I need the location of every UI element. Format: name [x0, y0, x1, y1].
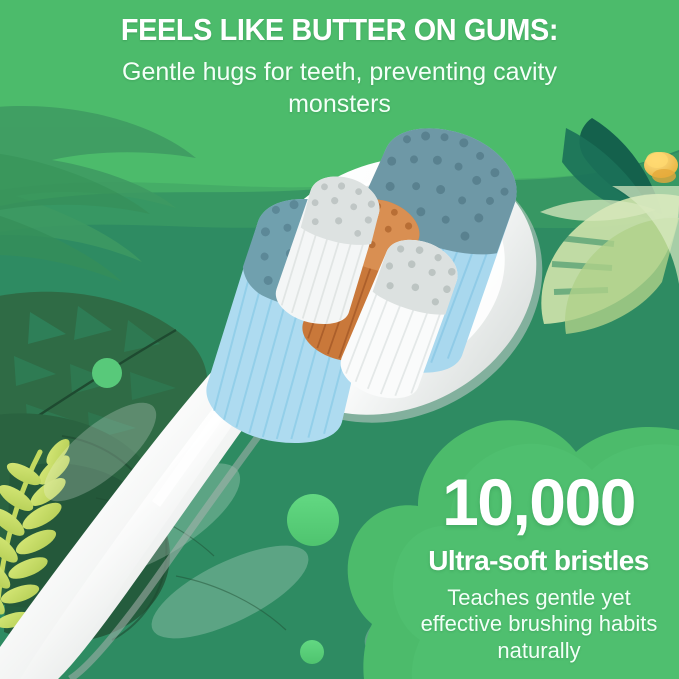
- bristle-count-label: Ultra-soft bristles: [398, 546, 679, 575]
- bristle-count-number: 10,000: [398, 470, 679, 535]
- bristle-count-description: Teaches gentle yet effective brushing ha…: [408, 585, 670, 664]
- product-banner: FEELS LIKE BUTTER ON GUMS: Gentle hugs f…: [0, 0, 679, 679]
- headline: FEELS LIKE BUTTER ON GUMS:: [24, 14, 655, 45]
- subheadline: Gentle hugs for teeth, preventing cavity…: [78, 57, 601, 120]
